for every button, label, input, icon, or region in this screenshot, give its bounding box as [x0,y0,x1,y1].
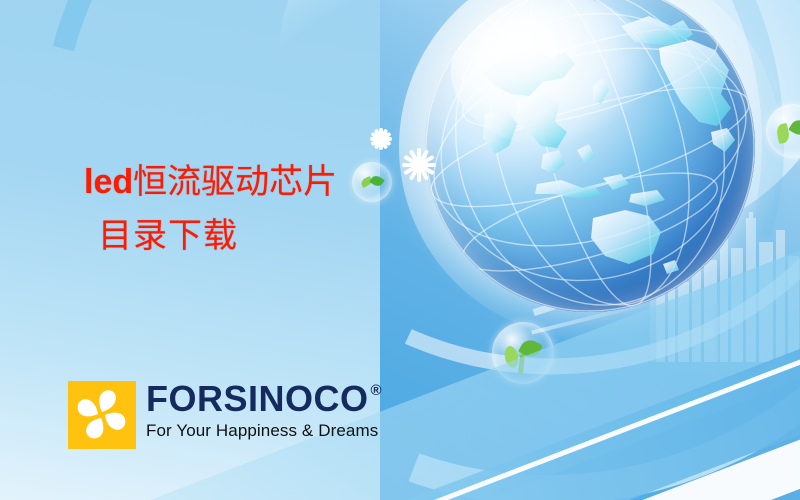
logo-text-block: FORSINOCO ® For Your Happiness & Dreams [146,381,382,441]
globe-sphere [425,0,755,312]
promotional-banner: led恒流驱动芯片 目录下载 FORSINOCO ® For Your Happ… [0,0,800,500]
headline-cjk-suffix: 恒流驱动芯片 [133,162,337,202]
brand-logo[interactable]: FORSINOCO ® For Your Happiness & Dreams [68,381,382,449]
bubble-icon [352,162,392,202]
globe-continents [425,0,755,312]
logo-wordmark-text: FORSINOCO [146,381,369,417]
globe-icon [425,0,755,312]
registered-trademark-icon: ® [371,383,383,398]
headline-text: led恒流驱动芯片 目录下载 [84,162,337,256]
logo-pinwheel-petals [68,381,136,449]
headline-latin-prefix: led [84,163,133,201]
headline-line-1: led恒流驱动芯片 [84,162,337,202]
logo-tagline: For Your Happiness & Dreams [146,421,382,441]
asterisk-flower-icon [402,148,436,182]
logo-wordmark: FORSINOCO ® [146,381,382,417]
asterisk-flower-icon [370,128,392,150]
headline-line-2: 目录下载 [98,216,337,256]
logo-pinwheel-icon [68,381,136,449]
